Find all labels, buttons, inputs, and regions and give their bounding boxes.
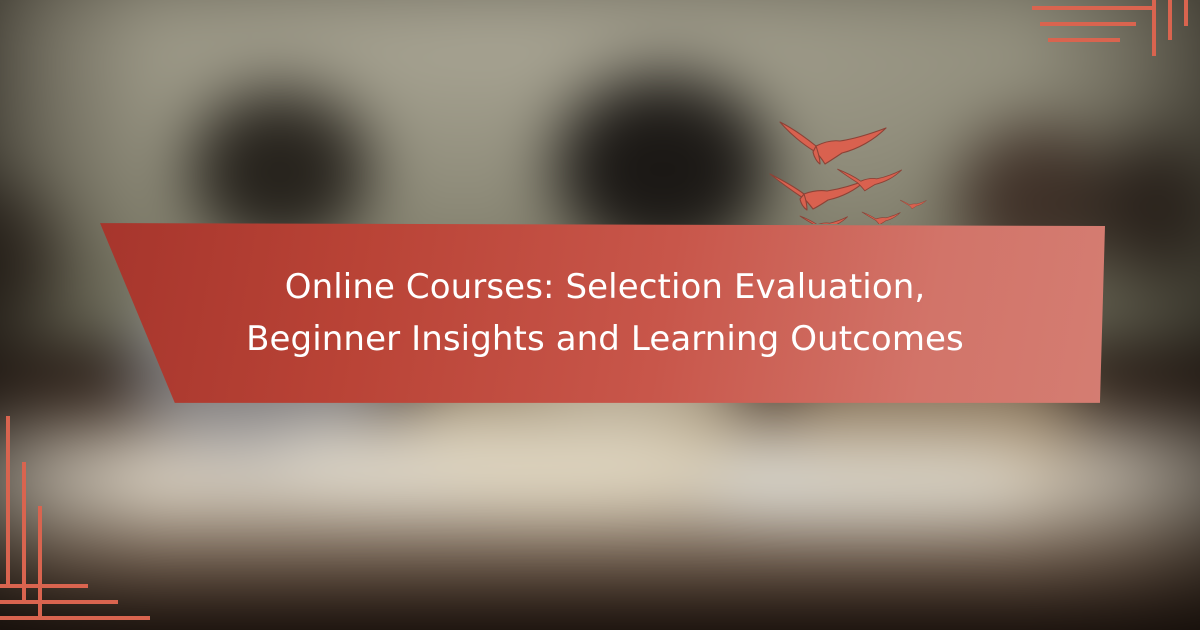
student-head-1: [190, 90, 370, 250]
background-photo: [0, 0, 1200, 630]
hero-banner-canvas: Online Courses: Selection Evaluation, Be…: [0, 0, 1200, 630]
bracket-line-tr-h2: [1040, 22, 1136, 26]
bracket-line-tr-v2: [1168, 0, 1172, 40]
student-head-2: [555, 75, 770, 260]
bracket-line-bl-v1: [6, 416, 10, 586]
background-shadow-bottom: [0, 580, 1200, 630]
bracket-line-bl-h1: [0, 584, 88, 588]
background-photo-blur-layer: [0, 0, 1200, 630]
bracket-line-bl-h3: [0, 616, 150, 620]
background-shadow-top: [0, 0, 1200, 30]
bracket-line-tr-v1: [1152, 0, 1156, 56]
bracket-line-bl-h2: [0, 600, 118, 604]
bracket-line-tr-h1: [1032, 6, 1152, 10]
desk-paper-2: [700, 440, 1030, 520]
bracket-line-bl-v2: [22, 462, 26, 602]
bracket-line-tr-h3: [1048, 38, 1120, 42]
flying-birds-icon: [762, 112, 1012, 224]
bracket-line-tr-v3: [1184, 0, 1188, 26]
background-vignette-right: [1022, 0, 1200, 630]
desk-paper-1: [280, 410, 700, 500]
